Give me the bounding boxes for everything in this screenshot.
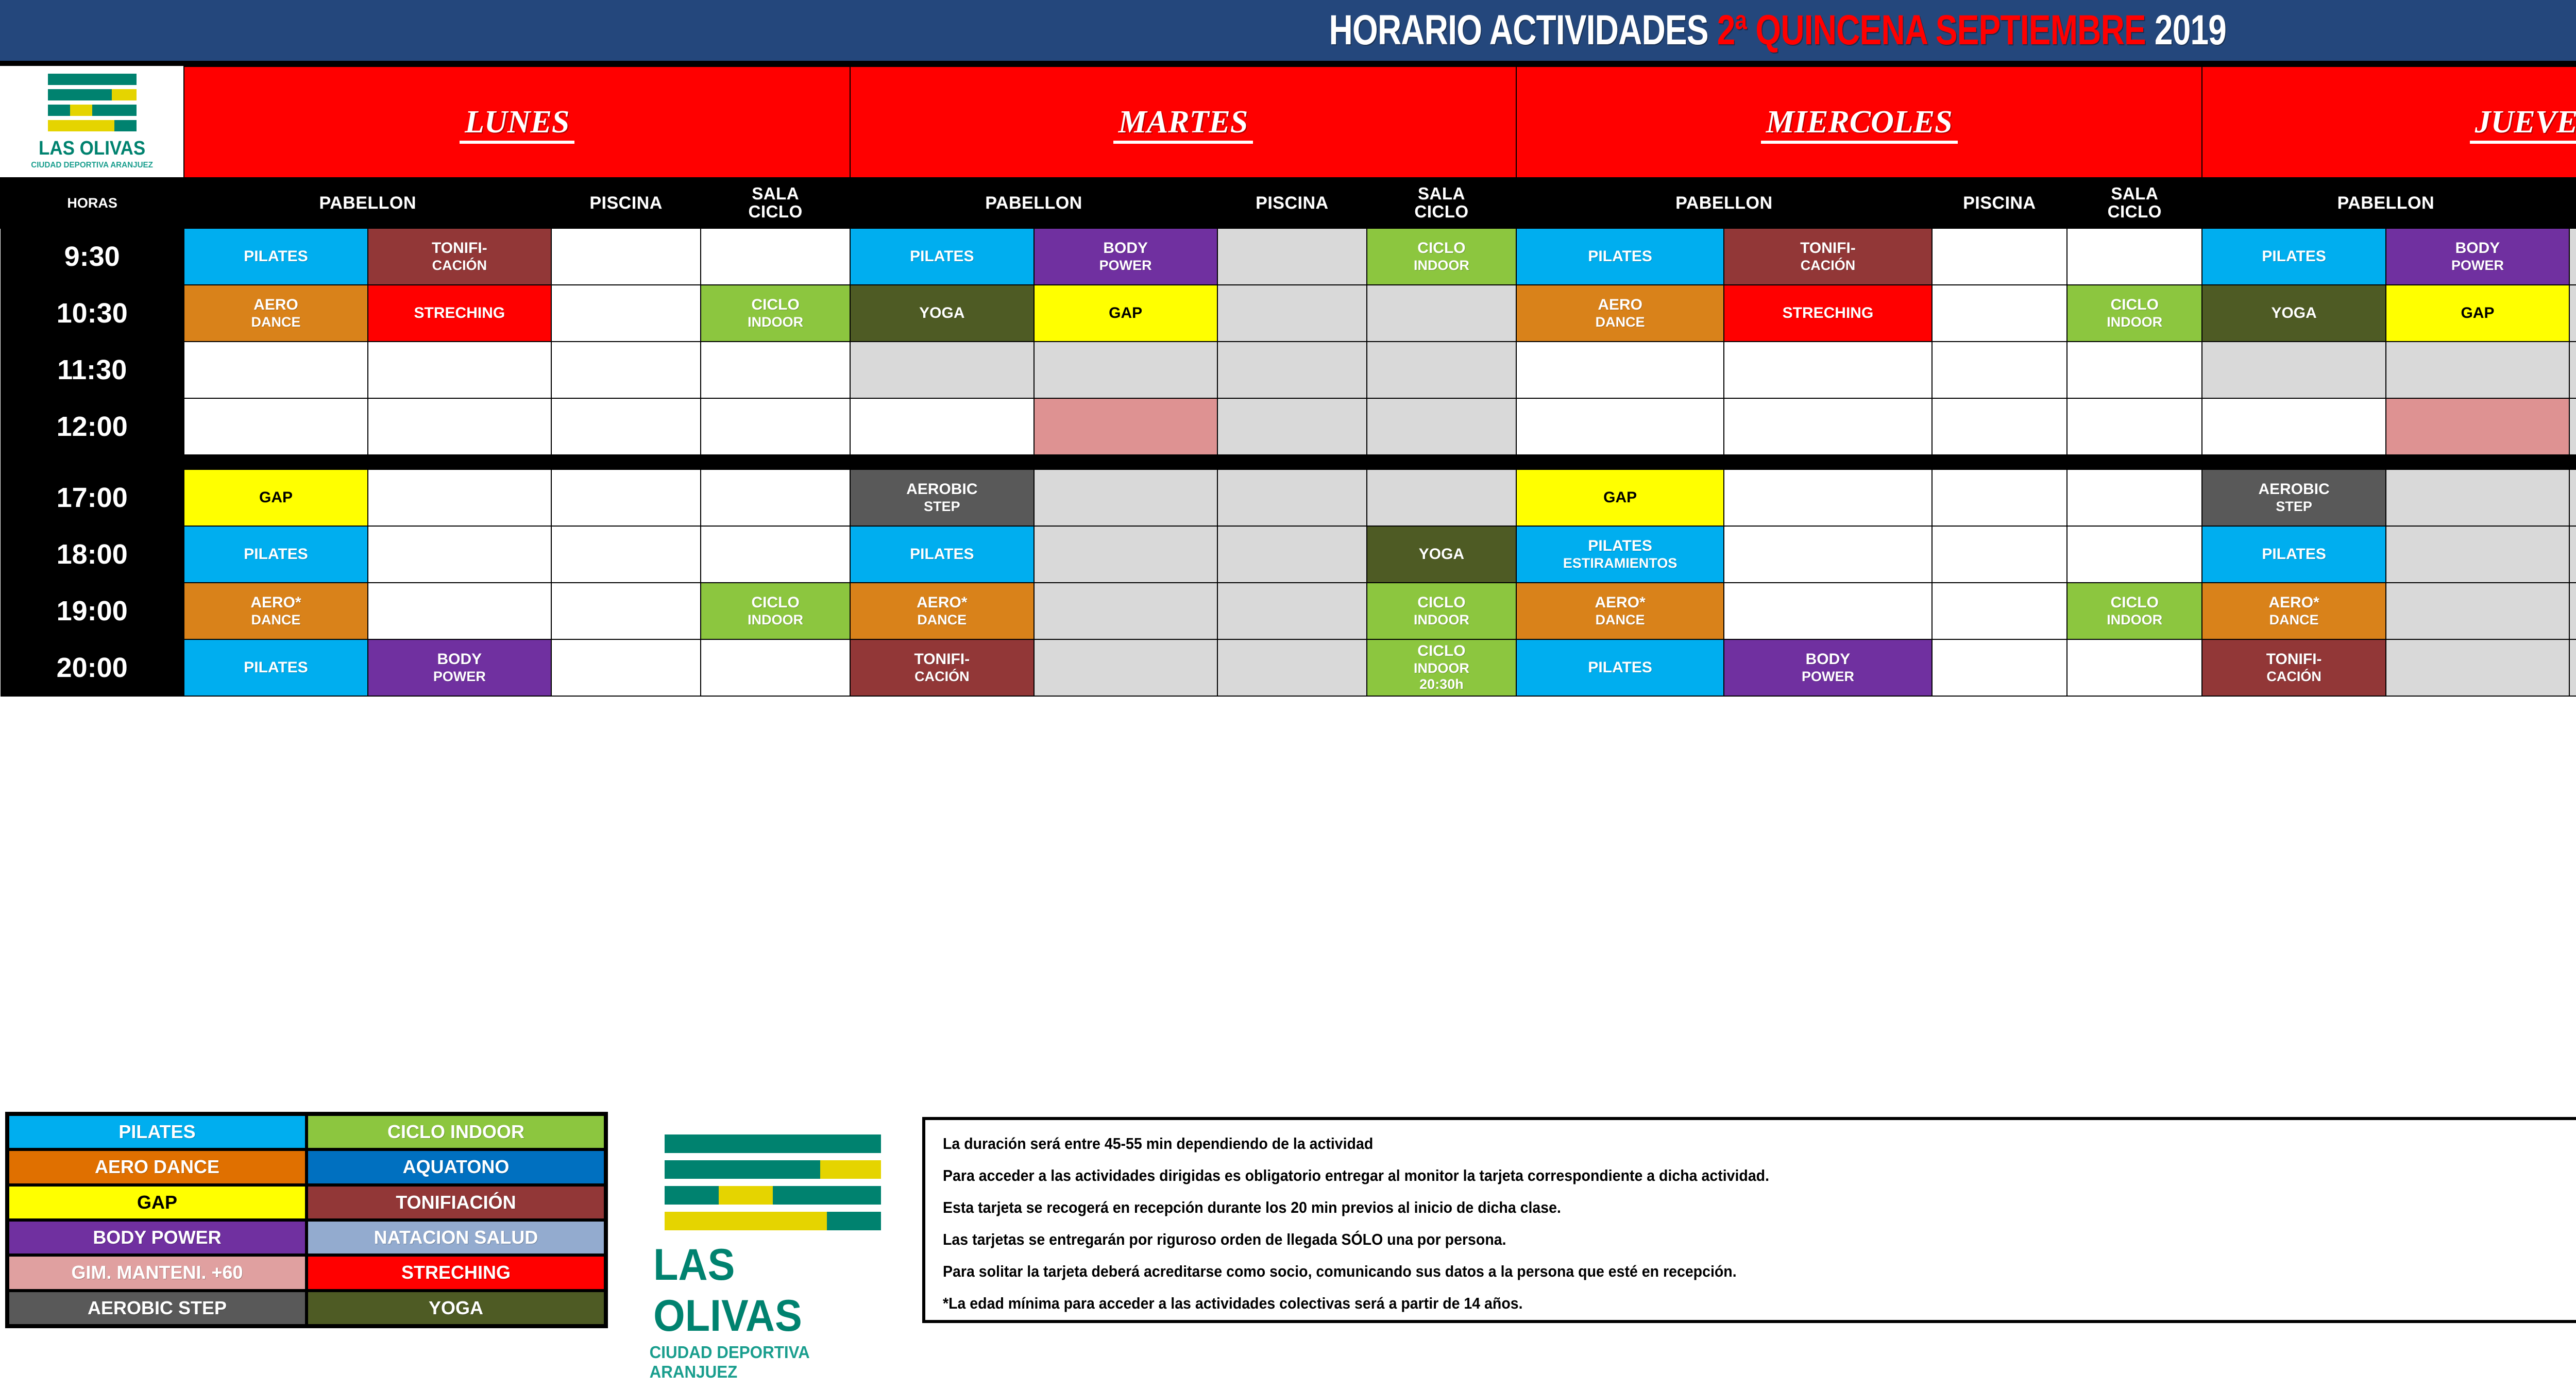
empty-cell-miercoles-1800: [1932, 526, 2067, 583]
empty-cell-miercoles-1700: [1932, 469, 2067, 526]
col-header-pabellon-lunes: PABELLON: [184, 178, 551, 228]
day-header-jueves: JUEVES: [2202, 66, 2576, 178]
title-divider: [0, 61, 2576, 66]
empty-cell-miercoles-1700: [2067, 469, 2202, 526]
empty-cell-miercoles-1700: [1724, 469, 1931, 526]
empty-cell-lunes-1700: [368, 469, 551, 526]
empty-cell-miercoles-930: [1932, 228, 2067, 285]
empty-cell-lunes-1700: [701, 469, 850, 526]
activity-body-miercoles-2000: BODYPOWER: [1724, 639, 1931, 696]
notes-panel: La duración será entre 45-55 min dependi…: [922, 1117, 2576, 1323]
empty-cell-martes-1030: [1367, 285, 1516, 342]
empty-cell-martes-1700: [1034, 469, 1217, 526]
activity-body-jueves-930: BODYPOWER: [2386, 228, 2569, 285]
bottom-area: PILATESCICLO INDOORAERO DANCEAQUATONOGAP…: [0, 1102, 2576, 1339]
page-title: HORARIO ACTIVIDADES 2ª QUINCENA SEPTIEMB…: [1329, 6, 2226, 55]
col-header-pabellon-jueves: PABELLON: [2202, 178, 2569, 228]
activity-ciclo-lunes-1900: CICLOINDOOR: [701, 583, 850, 639]
empty-cell-miercoles-1800: [1724, 526, 1931, 583]
activity-gap-jueves-1030: GAP: [2386, 285, 2569, 342]
empty-cell-lunes-1130: [184, 342, 367, 398]
empty-cell-martes-1700: [1217, 469, 1367, 526]
empty-cell-martes-2000: [1217, 639, 1367, 696]
empty-cell-jueves-930: [2569, 228, 2576, 285]
empty-cell-miercoles-1800: [2067, 526, 2202, 583]
activity-pilates-miercoles-1800: PILATESESTIRAMIENTOS: [1516, 526, 1724, 583]
activity-aerobic-martes-1700: AEROBICSTEP: [850, 469, 1033, 526]
logo-subtitle: CIUDAD DEPORTIVA ARANJUEZ: [650, 1343, 896, 1382]
activity-pilates-lunes-930: PILATES: [184, 228, 367, 285]
empty-cell-jueves-1030: [2569, 285, 2576, 342]
empty-cell-miercoles-1130: [1932, 342, 2067, 398]
activity-pilates-miercoles-930: PILATES: [1516, 228, 1724, 285]
empty-cell-jueves-1800: [2569, 526, 2576, 583]
logo-name: LAS OLIVAS: [653, 1240, 892, 1342]
empty-cell-lunes-930: [551, 228, 701, 285]
empty-cell-jueves-1700: [2569, 469, 2576, 526]
empty-cell-martes-1200: [850, 398, 1033, 455]
empty-cell-lunes-1700: [551, 469, 701, 526]
activity-pilates-jueves-930: PILATES: [2202, 228, 2385, 285]
empty-cell-lunes-1900: [551, 583, 701, 639]
empty-cell-jueves-2000: [2569, 639, 2576, 696]
empty-cell-martes-1130: [1217, 342, 1367, 398]
legend-item-body-power: BODY POWER: [8, 1220, 307, 1255]
empty-cell-martes-1800: [1217, 526, 1367, 583]
col-header-sala-ciclo-miercoles: SALACICLO: [2067, 178, 2202, 228]
empty-cell-miercoles-1030: [1932, 285, 2067, 342]
empty-cell-martes-1130: [1034, 342, 1217, 398]
col-header-piscina-miercoles: PISCINA: [1932, 178, 2067, 228]
empty-cell-lunes-1200: [184, 398, 367, 455]
empty-cell-jueves-1700: [2386, 469, 2569, 526]
empty-cell-martes-1200: [1367, 398, 1516, 455]
activity-streching-miercoles-1030: STRECHING: [1724, 285, 1931, 342]
hour-label-1900: 19:00: [1, 583, 184, 639]
legend-item-ciclo-indoor: CICLO INDOOR: [307, 1114, 605, 1149]
empty-cell-martes-930: [1217, 228, 1367, 285]
legend-item-natacion-salud: NATACION SALUD: [307, 1220, 605, 1255]
empty-cell-jueves-1200: [2202, 398, 2385, 455]
section-divider: [1, 455, 2576, 469]
day-header-miercoles: MIERCOLES: [1516, 66, 2202, 178]
empty-cell-lunes-1800: [701, 526, 850, 583]
legend-item-yoga: YOGA: [307, 1291, 605, 1326]
logo-name: LAS OLIVAS: [39, 138, 145, 160]
activity-pilates-lunes-2000: PILATES: [184, 639, 367, 696]
hour-label-1200: 12:00: [1, 398, 184, 455]
legend-item-gim-manteni-60: GIM. MANTENI. +60: [8, 1255, 307, 1290]
empty-cell-lunes-1800: [551, 526, 701, 583]
schedule-sheet: LAS OLIVAS CIUDAD DEPORTIVA ARANJUEZ LUN…: [0, 66, 2576, 1096]
activity-pilates-martes-930: PILATES: [850, 228, 1033, 285]
brand-logo-bottom: LAS OLIVAS CIUDAD DEPORTIVA ARANJUEZ: [639, 1127, 907, 1389]
empty-cell-lunes-2000: [701, 639, 850, 696]
empty-cell-jueves-1900: [2386, 583, 2569, 639]
activity-ciclo-martes-2000: CICLOINDOOR20:30h: [1367, 639, 1516, 696]
hour-label-1130: 11:30: [1, 342, 184, 398]
empty-cell-martes-2000: [1034, 639, 1217, 696]
activity-pilates-lunes-1800: PILATES: [184, 526, 367, 583]
col-header-piscina-lunes: PISCINA: [551, 178, 701, 228]
activity-activity-jueves-1200: [2386, 398, 2569, 455]
empty-cell-miercoles-1130: [1724, 342, 1931, 398]
empty-cell-lunes-1130: [701, 342, 850, 398]
empty-cell-lunes-2000: [551, 639, 701, 696]
note-line-5: Para solitar la tarjeta deberá acreditar…: [943, 1262, 2576, 1281]
legend-item-aero-dance: AERO DANCE: [8, 1149, 307, 1184]
empty-cell-lunes-1030: [551, 285, 701, 342]
activity-aero-miercoles-1900: AERO*DANCE: [1516, 583, 1724, 639]
activity-aero-miercoles-1030: AERODANCE: [1516, 285, 1724, 342]
activity-ciclo-martes-930: CICLOINDOOR: [1367, 228, 1516, 285]
day-header-lunes: LUNES: [184, 66, 850, 178]
activity-tonifi-martes-2000: TONIFI-CACIÓN: [850, 639, 1033, 696]
empty-cell-miercoles-2000: [1932, 639, 2067, 696]
empty-cell-miercoles-1130: [1516, 342, 1724, 398]
hours-column-header: HORAS: [1, 178, 184, 228]
activity-aero-jueves-1900: AERO*DANCE: [2202, 583, 2385, 639]
legend-item-aerobic-step: AEROBIC STEP: [8, 1291, 307, 1326]
empty-cell-miercoles-1200: [1724, 398, 1931, 455]
title-bar: HORARIO ACTIVIDADES 2ª QUINCENA SEPTIEMB…: [0, 0, 2576, 61]
activity-gap-miercoles-1700: GAP: [1516, 469, 1724, 526]
empty-cell-jueves-2000: [2386, 639, 2569, 696]
logo-bars-icon: [665, 1134, 881, 1238]
hour-label-1700: 17:00: [1, 469, 184, 526]
note-line-3: Esta tarjeta se recogerá en recepción du…: [943, 1198, 2576, 1217]
col-header-piscina-martes: PISCINA: [1217, 178, 1367, 228]
empty-cell-miercoles-1130: [2067, 342, 2202, 398]
note-line-1: La duración será entre 45-55 min dependi…: [943, 1134, 2576, 1153]
activity-ciclo-miercoles-1030: CICLOINDOOR: [2067, 285, 2202, 342]
empty-cell-jueves-1800: [2386, 526, 2569, 583]
note-line-4: Las tarjetas se entregarán por riguroso …: [943, 1230, 2576, 1249]
activity-yoga-martes-1030: YOGA: [850, 285, 1033, 342]
hour-label-2000: 20:00: [1, 639, 184, 696]
legend-item-gap: GAP: [8, 1185, 307, 1220]
empty-cell-martes-1800: [1034, 526, 1217, 583]
title-part-3: 2019: [2155, 7, 2226, 54]
empty-cell-miercoles-1900: [1932, 583, 2067, 639]
col-header-sala-ciclo-lunes: SALACICLO: [701, 178, 850, 228]
empty-cell-martes-1200: [1217, 398, 1367, 455]
empty-cell-jueves-1130: [2569, 342, 2576, 398]
activity-aero-lunes-1900: AERO*DANCE: [184, 583, 367, 639]
empty-cell-lunes-930: [701, 228, 850, 285]
activity-pilates-martes-1800: PILATES: [850, 526, 1033, 583]
activity-tonifi-miercoles-930: TONIFI-CACIÓN: [1724, 228, 1931, 285]
title-part-1: HORARIO ACTIVIDADES: [1329, 7, 1717, 54]
legend-item-pilates: PILATES: [8, 1114, 307, 1149]
empty-cell-martes-1900: [1034, 583, 1217, 639]
activity-body-martes-930: BODYPOWER: [1034, 228, 1217, 285]
empty-cell-martes-1130: [1367, 342, 1516, 398]
note-line-2: Para acceder a las actividades dirigidas…: [943, 1166, 2576, 1185]
legend-item-tonifiaci-n: TONIFIACIÓN: [307, 1185, 605, 1220]
empty-cell-lunes-1800: [368, 526, 551, 583]
empty-cell-miercoles-930: [2067, 228, 2202, 285]
activity-yoga-martes-1800: YOGA: [1367, 526, 1516, 583]
empty-cell-martes-1130: [850, 342, 1033, 398]
logo-bars-icon: [48, 74, 137, 135]
activity-aero-lunes-1030: AERODANCE: [184, 285, 367, 342]
note-line-6: *La edad mínima para acceder a las activ…: [943, 1294, 2576, 1313]
activity-legend: PILATESCICLO INDOORAERO DANCEAQUATONOGAP…: [5, 1112, 608, 1328]
empty-cell-lunes-1200: [551, 398, 701, 455]
empty-cell-lunes-1200: [701, 398, 850, 455]
legend-item-aquatono: AQUATONO: [307, 1149, 605, 1184]
schedule-table: LAS OLIVAS CIUDAD DEPORTIVA ARANJUEZ LUN…: [0, 66, 2576, 697]
activity-activity-martes-1200: [1034, 398, 1217, 455]
activity-pilates-miercoles-2000: PILATES: [1516, 639, 1724, 696]
empty-cell-lunes-1130: [368, 342, 551, 398]
brand-logo-top: LAS OLIVAS CIUDAD DEPORTIVA ARANJUEZ: [1, 66, 184, 178]
activity-streching-lunes-1030: STRECHING: [368, 285, 551, 342]
empty-cell-miercoles-1900: [1724, 583, 1931, 639]
empty-cell-martes-1030: [1217, 285, 1367, 342]
hour-label-1800: 18:00: [1, 526, 184, 583]
activity-tonifi-jueves-2000: TONIFI-CACIÓN: [2202, 639, 2385, 696]
activity-body-lunes-2000: BODYPOWER: [368, 639, 551, 696]
col-header-pabellon-martes: PABELLON: [850, 178, 1217, 228]
col-header-pabellon-miercoles: PABELLON: [1516, 178, 1932, 228]
hour-label-930: 9:30: [1, 228, 184, 285]
title-part-2: 2ª QUINCENA SEPTIEMBRE: [1717, 7, 2154, 54]
empty-cell-jueves-1900: [2569, 583, 2576, 639]
empty-cell-jueves-1130: [2202, 342, 2385, 398]
activity-aerobic-jueves-1700: AEROBICSTEP: [2202, 469, 2385, 526]
col-header-sala-ciclo-martes: SALACICLO: [1367, 178, 1516, 228]
activity-ciclo-miercoles-1900: CICLOINDOOR: [2067, 583, 2202, 639]
day-header-martes: MARTES: [850, 66, 1516, 178]
activity-aero-martes-1900: AERO*DANCE: [850, 583, 1033, 639]
empty-cell-lunes-1200: [368, 398, 551, 455]
col-header-piscina-jueves: PISCINA: [2569, 178, 2576, 228]
empty-cell-jueves-1200: [2569, 398, 2576, 455]
empty-cell-jueves-1130: [2386, 342, 2569, 398]
empty-cell-martes-1700: [1367, 469, 1516, 526]
empty-cell-lunes-1130: [551, 342, 701, 398]
empty-cell-miercoles-1200: [1516, 398, 1724, 455]
empty-cell-martes-1900: [1217, 583, 1367, 639]
activity-gap-martes-1030: GAP: [1034, 285, 1217, 342]
activity-yoga-jueves-1030: YOGA: [2202, 285, 2385, 342]
activity-tonifi-lunes-930: TONIFI-CACIÓN: [368, 228, 551, 285]
legend-item-streching: STRECHING: [307, 1255, 605, 1290]
activity-ciclo-lunes-1030: CICLOINDOOR: [701, 285, 850, 342]
empty-cell-miercoles-1200: [1932, 398, 2067, 455]
empty-cell-miercoles-2000: [2067, 639, 2202, 696]
activity-ciclo-martes-1900: CICLOINDOOR: [1367, 583, 1516, 639]
activity-pilates-jueves-1800: PILATES: [2202, 526, 2385, 583]
empty-cell-lunes-1900: [368, 583, 551, 639]
empty-cell-miercoles-1200: [2067, 398, 2202, 455]
logo-subtitle: CIUDAD DEPORTIVA ARANJUEZ: [31, 161, 153, 170]
hour-label-1030: 10:30: [1, 285, 184, 342]
activity-gap-lunes-1700: GAP: [184, 469, 367, 526]
